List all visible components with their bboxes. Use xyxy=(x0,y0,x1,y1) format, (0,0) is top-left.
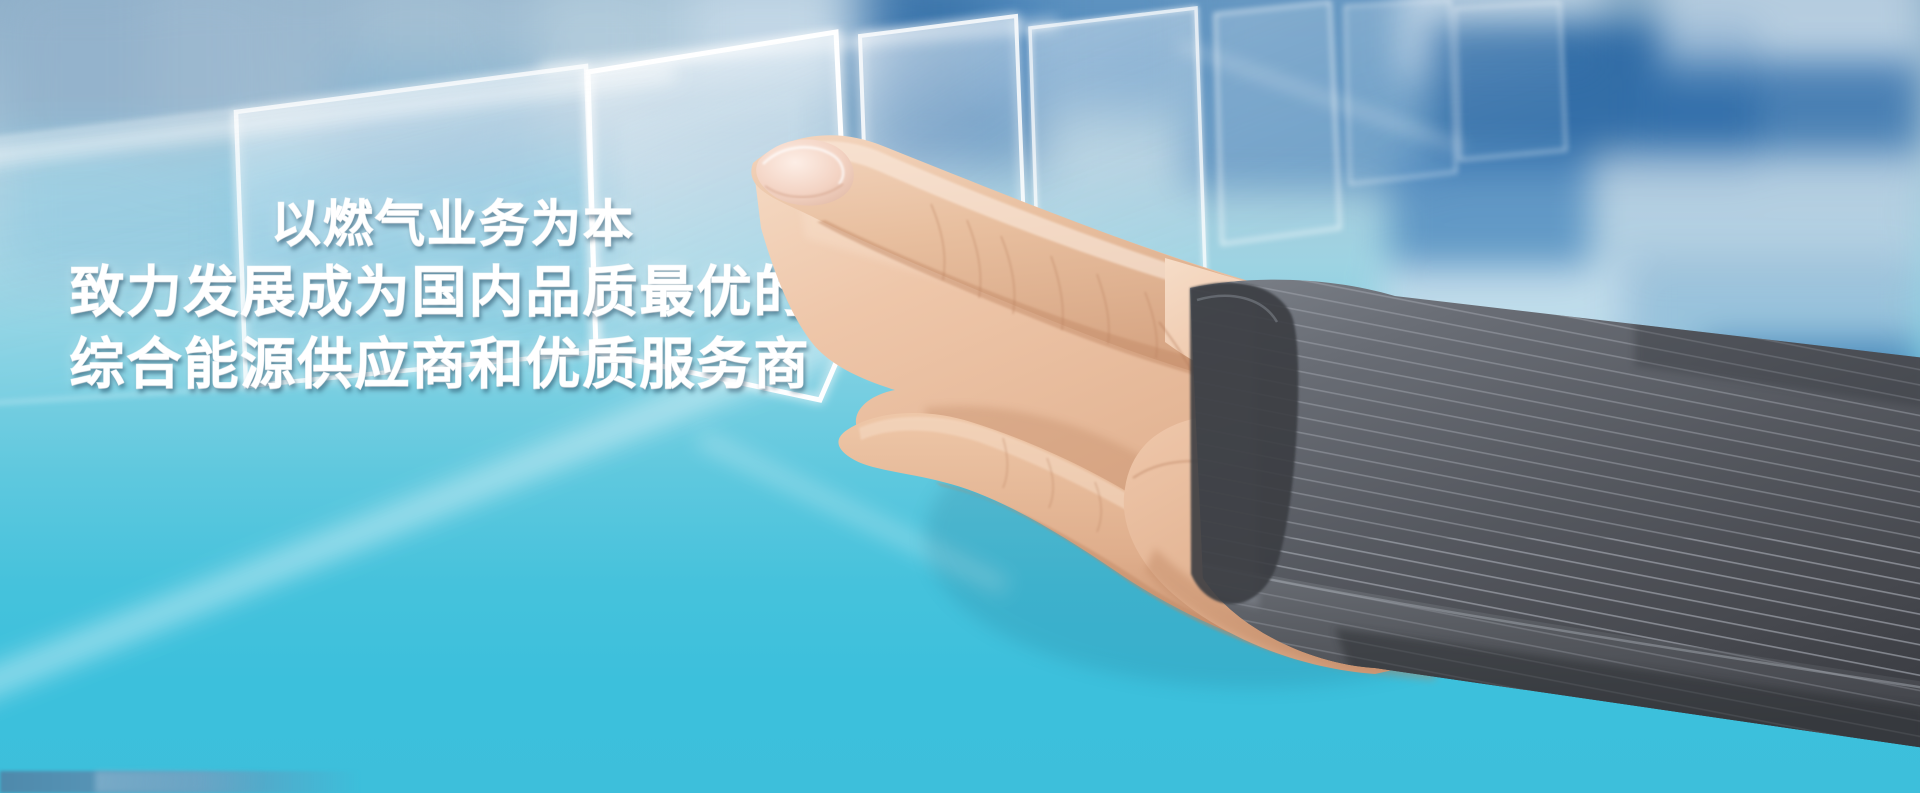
bottom-dark-band-highlight xyxy=(95,771,265,793)
headline-line-1: 以燃气业务为本 xyxy=(271,196,635,252)
headline-line-3: 综合能源供应商和优质服务商 xyxy=(69,334,810,396)
light-streak xyxy=(0,62,676,170)
pointing-hand-photo xyxy=(735,108,1920,793)
banner-root: 以燃气业务为本 致力发展成为国内品质最优的 综合能源供应商和优质服务商 xyxy=(0,0,1920,793)
light-streak xyxy=(539,17,1058,76)
headline-line-2: 致力发展成为国内品质最优的 xyxy=(69,262,810,324)
